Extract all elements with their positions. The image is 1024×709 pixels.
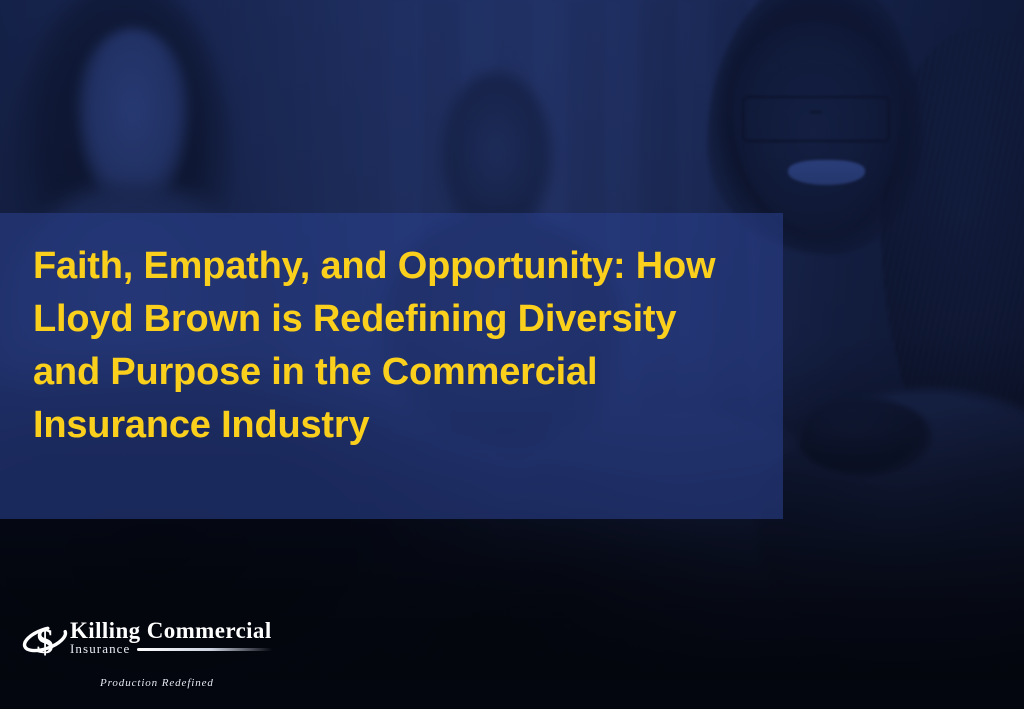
logo-subtitle: Insurance [70,642,130,656]
logo-primary-row: $ Killing Commercial Insurance [22,618,322,664]
headline-line-1: Faith, Empathy, and Opportunity: How [33,240,778,293]
svg-text:$: $ [36,622,54,661]
logo-company-name: Killing Commercial [70,618,272,643]
logo-subtitle-row: Insurance [70,642,272,656]
logo-divider-rule [137,648,271,651]
article-hero-banner: Faith, Empathy, and Opportunity: How Llo… [0,0,1024,709]
logo-wordmark: Killing Commercial Insurance [70,618,272,656]
headline-line-3: and Purpose in the Commercial [33,346,778,399]
logo-tagline: Production Redefined [100,677,322,689]
page-title: Faith, Empathy, and Opportunity: How Llo… [33,240,778,452]
brand-logo[interactable]: $ Killing Commercial Insurance Productio… [22,618,322,696]
headline-line-4: Insurance Industry [33,399,778,452]
dollar-sign-orbit-icon: $ [22,618,68,662]
headline-line-2: Lloyd Brown is Redefining Diversity [33,293,778,346]
